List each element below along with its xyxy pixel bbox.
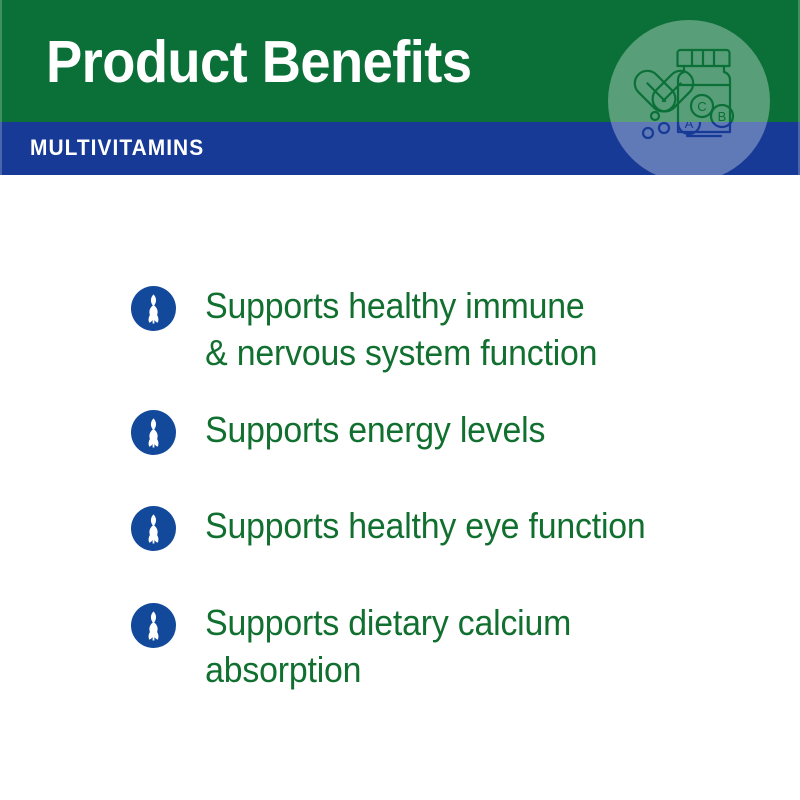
category-label: MULTIVITAMINS — [30, 135, 204, 161]
benefit-item: Supports healthy eye function — [131, 502, 676, 551]
leaf-sprig-bullet-icon — [131, 410, 176, 455]
banner-graphic: C B — [608, 20, 770, 175]
benefit-item: Supports dietary calcium absorption — [131, 599, 596, 693]
leaf-sprig-bullet-icon — [131, 506, 176, 551]
leaf-sprig-bullet-icon — [131, 603, 176, 648]
benefit-item: Supports energy levels — [131, 406, 569, 455]
benefit-text: Supports healthy eye function — [176, 502, 646, 549]
benefit-text: Supports dietary calcium absorption — [176, 599, 571, 693]
benefit-text: Supports energy levels — [176, 406, 545, 453]
vitamin-bottle-and-capsules-icon: C B — [608, 20, 770, 175]
benefit-item: Supports healthy immune & nervous system… — [131, 282, 624, 376]
product-benefits-infographic: C B — [0, 0, 800, 800]
svg-text:A: A — [685, 116, 694, 131]
svg-text:C: C — [697, 99, 706, 114]
leaf-sprig-bullet-icon — [131, 286, 176, 331]
header-banner: C B — [0, 0, 800, 175]
benefit-text: Supports healthy immune & nervous system… — [176, 282, 597, 376]
page-title: Product Benefits — [46, 31, 471, 93]
svg-text:B: B — [718, 109, 727, 124]
banner-left-edge — [0, 0, 2, 175]
